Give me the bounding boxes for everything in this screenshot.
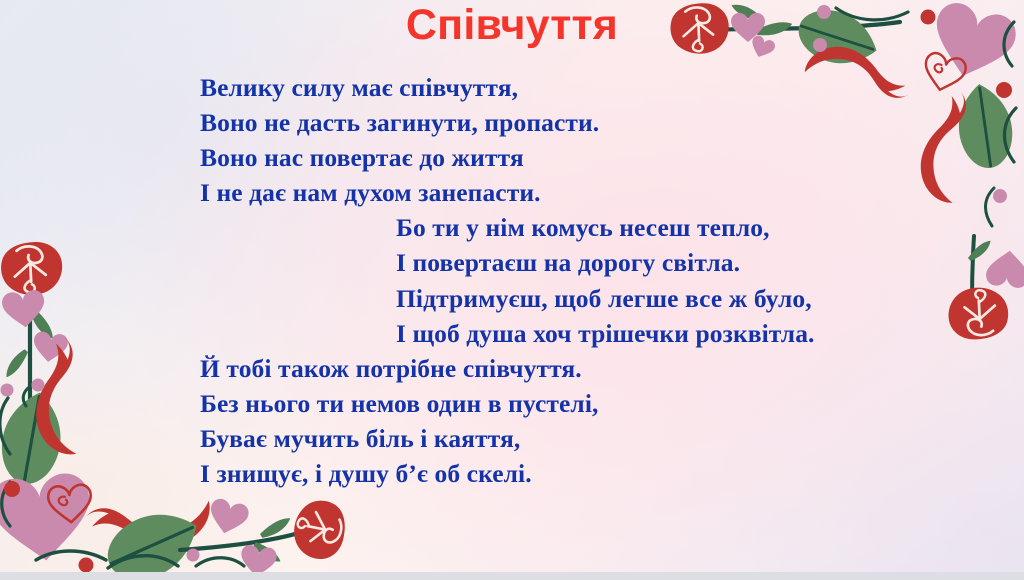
- poem-line: Бо ти у нім комусь несеш тепло,: [0, 210, 1024, 245]
- dot-icon: [187, 549, 200, 562]
- poem-stanza: Велику силу має співчуття,Воно не дасть …: [0, 70, 1024, 210]
- dot-icon: [79, 558, 94, 573]
- poem-line: І щоб душа хоч трішечки розквітла.: [0, 316, 1024, 351]
- poem-line: Воно не дасть загинути, пропасти.: [0, 105, 1024, 140]
- poem-line: Велику силу має співчуття,: [0, 70, 1024, 105]
- poem-line: Воно нас повертає до життя: [0, 140, 1024, 175]
- poem-line: І знищує, і душу б’є об скелі.: [0, 456, 1024, 491]
- poem-line: Буває мучить біль і каяття,: [0, 421, 1024, 456]
- heart-icon: [238, 544, 277, 572]
- poem-line: Підтримуєш, щоб легше все ж було,: [0, 281, 1024, 316]
- heart-icon: [206, 497, 251, 538]
- poem-line: І не дає нам духом занепасти.: [0, 175, 1024, 210]
- poem-line: Й тобі також потрібне співчуття.: [0, 351, 1024, 386]
- poem-stanza: Бо ти у нім комусь несеш тепло,І поверта…: [0, 210, 1024, 350]
- poem-body: Велику силу має співчуття,Воно не дасть …: [0, 70, 1024, 491]
- decoration-bottom-left: [36, 495, 351, 572]
- poem-line: Без нього ти немов один в пустелі,: [0, 386, 1024, 421]
- leaf-icon: [97, 499, 208, 572]
- flame-swirl-icon: [84, 497, 214, 553]
- poem-line: І повертаєш на дорогу світла.: [0, 245, 1024, 280]
- page-title: Співчуття: [0, 2, 1024, 48]
- poem-stanza: Й тобі також потрібне співчуття.Без ньог…: [0, 351, 1024, 491]
- slide-canvas: Співчуття Велику силу має співчуття,Воно…: [0, 0, 1024, 572]
- bottom-bar: [0, 572, 1024, 580]
